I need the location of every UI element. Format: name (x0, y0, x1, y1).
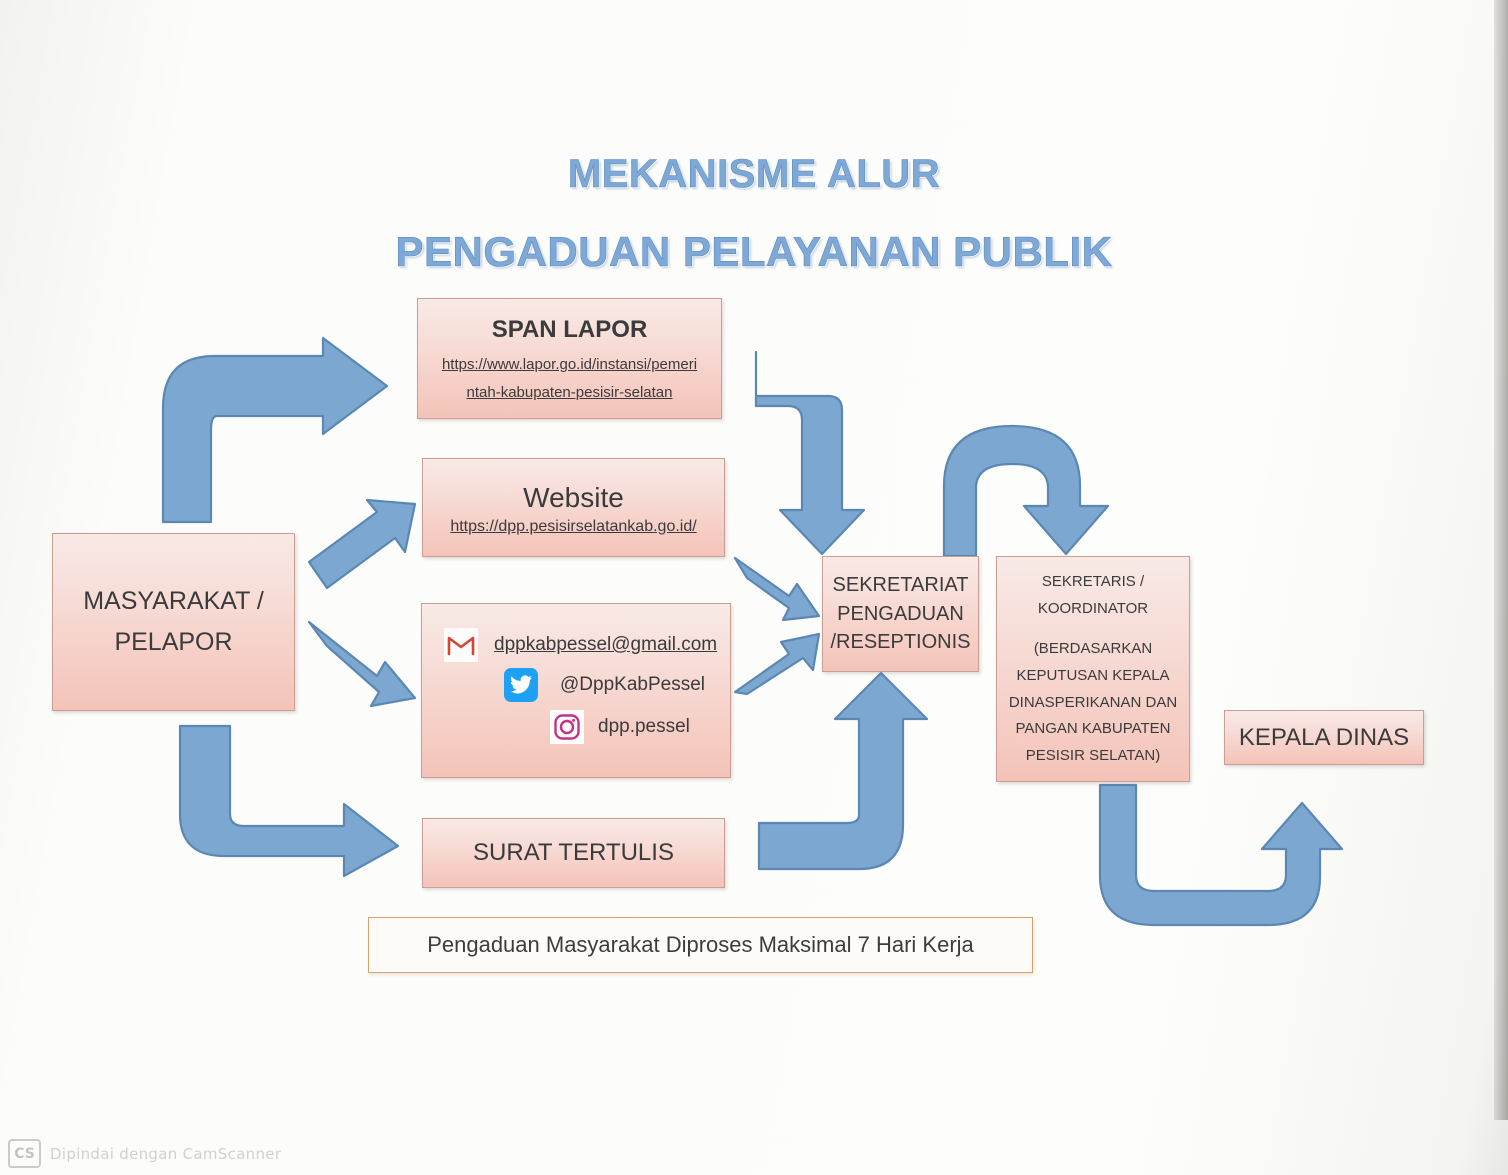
node-masyarakat-pelapor[interactable]: MASYARAKAT / PELAPOR (52, 533, 295, 711)
span-lapor-url-line-2[interactable]: ntah-kabupaten-pesisir-selatan (459, 379, 681, 407)
email-address[interactable]: dppkabpessel@gmail.com (494, 634, 717, 656)
node-social-media-contacts[interactable]: dppkabpessel@gmail.com @DppKabPessel dpp… (421, 603, 731, 778)
arrow-span-lapor-to-sekretariat (752, 348, 892, 558)
arrow-sekretariat-to-koordinator (940, 408, 1130, 558)
koordinator-line-6: PANGAN KABUPATEN (1015, 716, 1170, 743)
node-surat-tertulis[interactable]: SURAT TERTULIS (422, 818, 725, 888)
arrow-masyarakat-to-span-lapor (155, 338, 395, 523)
scanned-page: MEKANISME ALUR PENGADUAN PELAYANAN PUBLI… (0, 0, 1508, 1175)
twitter-handle[interactable]: @DppKabPessel (560, 674, 705, 696)
koordinator-line-7: PESISIR SELATAN) (1026, 743, 1160, 770)
node-sekretariat-pengaduan[interactable]: SEKRETARIAT PENGADUAN /RESEPTIONIS (822, 556, 979, 672)
website-heading: Website (523, 482, 624, 514)
arrow-masyarakat-to-social (305, 616, 417, 708)
node-sekretaris-koordinator[interactable]: SEKRETARIS / KOORDINATOR (BERDASARKAN KE… (996, 556, 1190, 782)
koordinator-line-3: (BERDASARKAN (1034, 636, 1152, 663)
koordinator-line-4: KEPUTUSAN KEPALA (1016, 663, 1169, 690)
social-row-instagram[interactable]: dpp.pessel (422, 710, 730, 744)
node-kepala-dinas[interactable]: KEPALA DINAS (1224, 710, 1424, 765)
node-span-lapor[interactable]: SPAN LAPOR https://www.lapor.go.id/insta… (417, 298, 722, 419)
page-title-line-1: MEKANISME ALUR (0, 152, 1508, 197)
instagram-icon (550, 710, 584, 744)
website-url[interactable]: https://dpp.pesisirselatankab.go.id/ (450, 518, 696, 536)
instagram-handle[interactable]: dpp.pessel (598, 716, 690, 738)
span-lapor-url-line-1[interactable]: https://www.lapor.go.id/instansi/pemeri (434, 351, 705, 379)
gmail-icon (444, 628, 478, 662)
sekretariat-line-3: /RESEPTIONIS (830, 628, 970, 656)
processing-time-note: Pengaduan Masyarakat Diproses Maksimal 7… (368, 917, 1033, 973)
koordinator-line-5: DINASPERIKANAN DAN (1009, 690, 1177, 717)
masyarakat-line-2: PELAPOR (114, 622, 232, 663)
node-website[interactable]: Website https://dpp.pesisirselatankab.go… (422, 458, 725, 557)
surat-tertulis-label: SURAT TERTULIS (473, 839, 674, 867)
page-title-line-2: PENGADUAN PELAYANAN PUBLIK (0, 228, 1508, 276)
note-text: Pengaduan Masyarakat Diproses Maksimal 7… (427, 932, 974, 958)
arrow-masyarakat-to-website (305, 500, 417, 590)
masyarakat-line-1: MASYARAKAT / (83, 581, 264, 622)
arrow-masyarakat-to-surat (168, 726, 403, 876)
camscanner-badge: CS (8, 1139, 41, 1168)
arrow-koordinator-to-kepala-dinas (1096, 785, 1346, 930)
koordinator-line-1: SEKRETARIS / (1042, 569, 1144, 596)
sekretariat-line-1: SEKRETARIAT (833, 571, 969, 599)
arrow-surat-to-sekretariat (755, 673, 935, 873)
social-row-email[interactable]: dppkabpessel@gmail.com (422, 628, 730, 662)
span-lapor-heading: SPAN LAPOR (492, 316, 648, 344)
kepala-dinas-label: KEPALA DINAS (1239, 724, 1409, 752)
camscanner-text: Dipindai dengan CamScanner (50, 1145, 281, 1163)
arrow-website-to-sekretariat (733, 552, 821, 622)
twitter-icon (504, 668, 538, 702)
koordinator-line-2: KOORDINATOR (1038, 596, 1148, 623)
camscanner-watermark: CS Dipindai dengan CamScanner (8, 1139, 281, 1168)
sekretariat-line-2: PENGADUAN (837, 600, 964, 628)
social-row-twitter[interactable]: @DppKabPessel (422, 668, 730, 702)
